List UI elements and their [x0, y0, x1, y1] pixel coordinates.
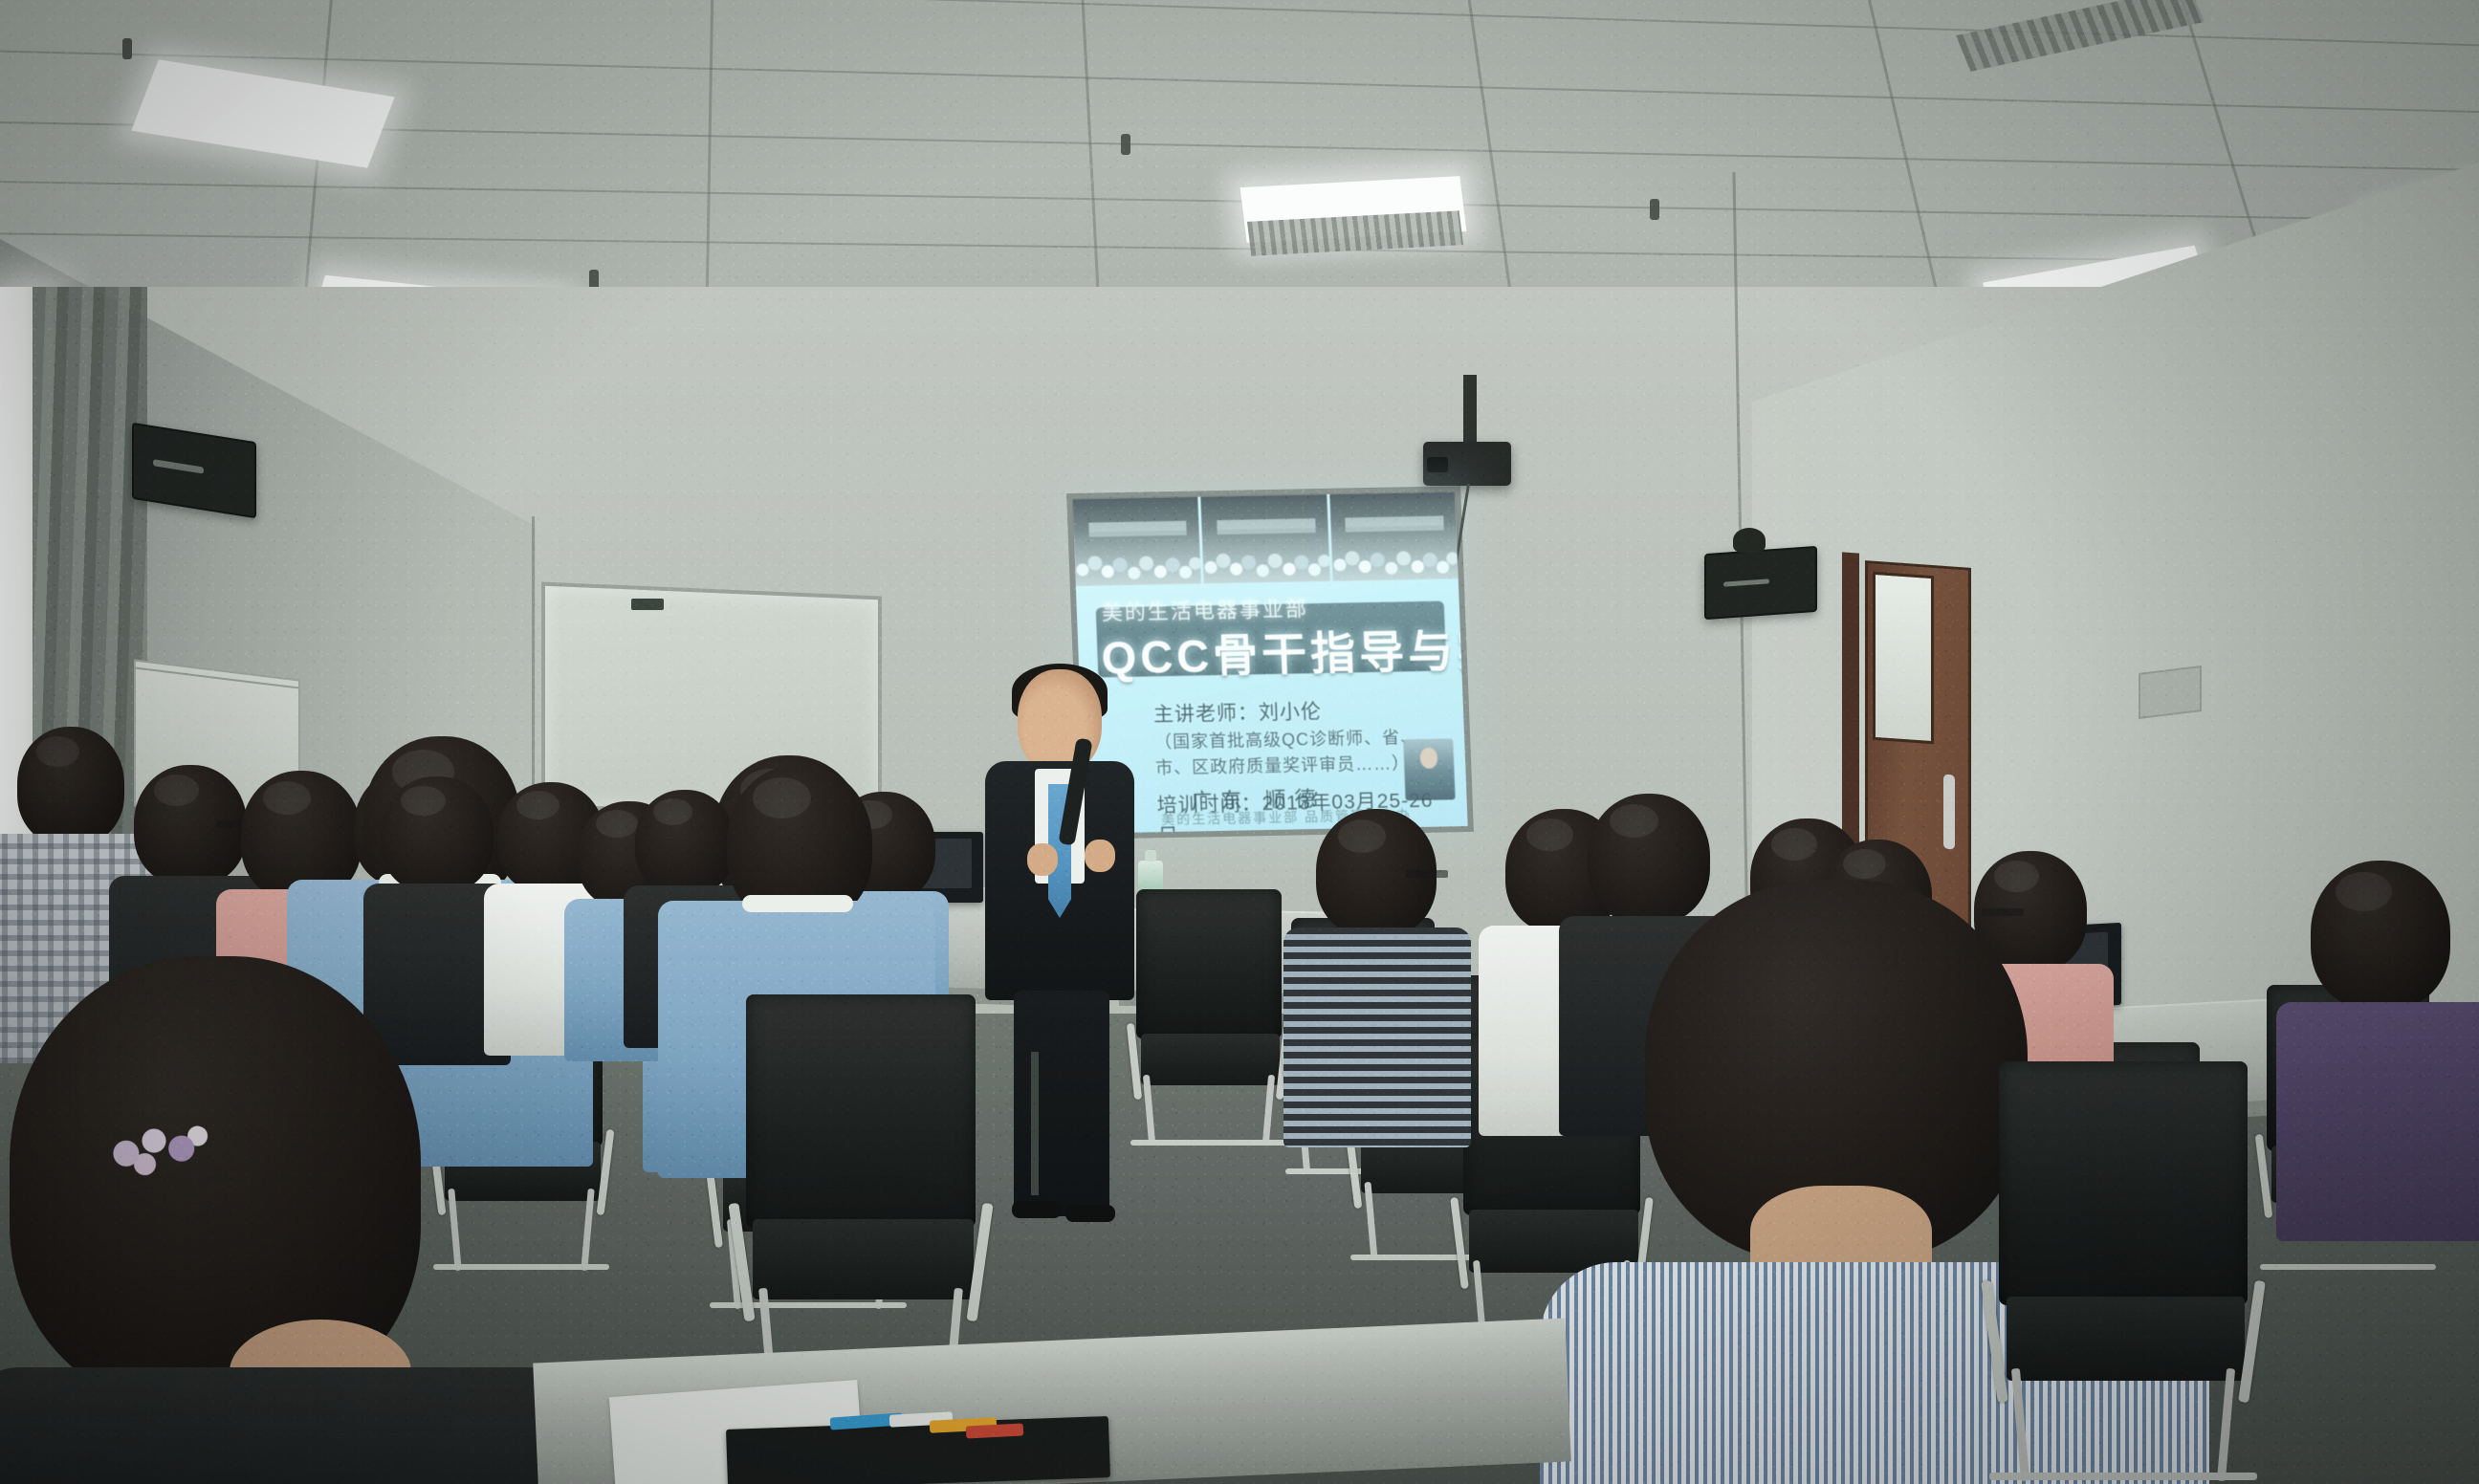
- presenter-trousers: [1014, 991, 1109, 1216]
- whiteboard-clip: [631, 599, 664, 610]
- sprinkler-head: [1121, 134, 1130, 155]
- wall-plate: [2139, 666, 2202, 719]
- door-window: [1873, 572, 1934, 744]
- presenter-hand-left: [1027, 843, 1058, 876]
- presenter-leg-gap: [1031, 1052, 1039, 1195]
- wall-speaker-right: [1704, 546, 1817, 620]
- wall-camera-icon: [1733, 528, 1766, 553]
- conference-chair[interactable]: [746, 994, 976, 1396]
- attendee: [1299, 809, 1452, 1115]
- sprinkler-head: [122, 38, 132, 59]
- conference-chair[interactable]: [1136, 889, 1282, 1147]
- attendee-shirt: [2276, 1002, 2479, 1241]
- presenter: [985, 669, 1138, 1224]
- door-handle[interactable]: [1943, 775, 1955, 850]
- conference-chair[interactable]: [1999, 1061, 2248, 1482]
- attendee-shirt: [1283, 927, 1471, 1147]
- attendee: [2292, 861, 2473, 1205]
- presenter-hand-right: [1085, 840, 1115, 872]
- presenter-shoe: [1065, 1205, 1115, 1222]
- sprinkler-head: [1650, 199, 1659, 220]
- projector-mount-pole: [1463, 375, 1477, 446]
- classroom-scene: 美的生活电器事业部 QCC骨干指导与实践培训会 主讲老师：刘小伦 （国家首批高级…: [0, 0, 2479, 1484]
- presenter-shoe: [1012, 1201, 1062, 1218]
- projector-lens-icon: [1427, 457, 1448, 472]
